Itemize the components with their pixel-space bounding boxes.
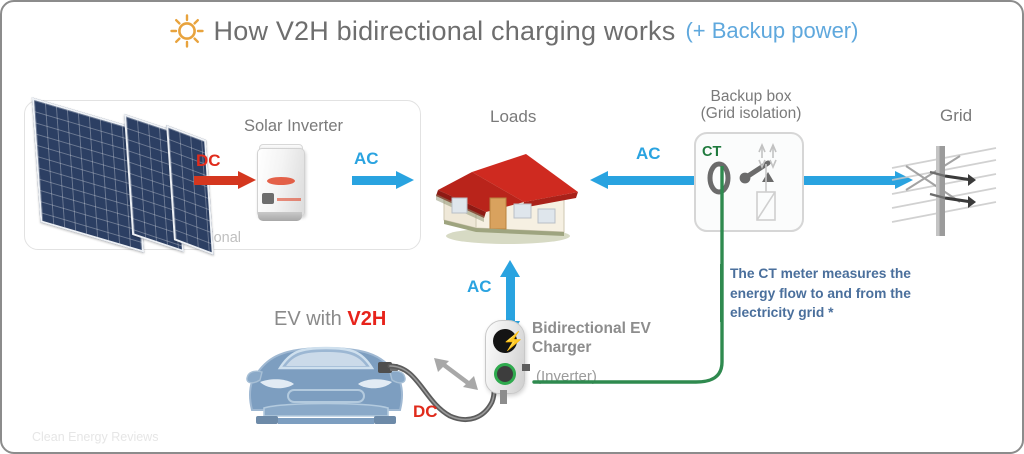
backup-box-label: Backup box (Grid isolation) bbox=[696, 88, 806, 122]
dc-label-ev: DC bbox=[413, 402, 438, 422]
page-title: How V2H bidirectional charging works bbox=[214, 16, 676, 47]
ev-label: EV with V2H bbox=[274, 308, 386, 331]
watermark: Clean Energy Reviews bbox=[32, 430, 158, 444]
loads-label: Loads bbox=[490, 107, 536, 127]
backup-box-subtitle: (Grid isolation) bbox=[696, 105, 806, 122]
sun-icon bbox=[170, 14, 204, 48]
ct-signal-wire bbox=[514, 166, 726, 398]
ct-note: The CT meter measures the energy flow to… bbox=[730, 264, 930, 323]
power-pole-icon bbox=[890, 132, 1000, 242]
ct-label: CT bbox=[702, 144, 721, 160]
ev-label-highlight: V2H bbox=[347, 308, 386, 330]
solar-inverter-label: Solar Inverter bbox=[244, 117, 343, 136]
ev-label-prefix: EV with bbox=[274, 308, 347, 330]
diagram-canvas: How V2H bidirectional charging works (+ … bbox=[0, 0, 1024, 454]
contactor-switch-icon bbox=[740, 163, 774, 192]
dc-label-solar: DC bbox=[196, 151, 221, 171]
diagram-title: How V2H bidirectional charging works (+ … bbox=[2, 14, 1024, 48]
backup-box-title: Backup box bbox=[696, 88, 806, 105]
double-arrow-icon bbox=[430, 354, 482, 394]
ct-note-accent-bar bbox=[720, 264, 723, 322]
solar-panel-icon bbox=[30, 110, 200, 245]
grid-label: Grid bbox=[940, 106, 972, 126]
relay-coil-icon bbox=[757, 192, 775, 220]
solar-inverter-icon bbox=[257, 144, 303, 222]
page-subtitle: (+ Backup power) bbox=[685, 18, 858, 44]
ac-label-charger: AC bbox=[467, 277, 492, 297]
dc-arrow-solar-to-inverter bbox=[194, 174, 256, 187]
ac-arrow-inverter-to-house bbox=[352, 174, 416, 187]
ac-label-inverter: AC bbox=[354, 149, 379, 169]
ac-label-grid: AC bbox=[636, 144, 661, 164]
charging-socket-icon bbox=[494, 363, 516, 385]
